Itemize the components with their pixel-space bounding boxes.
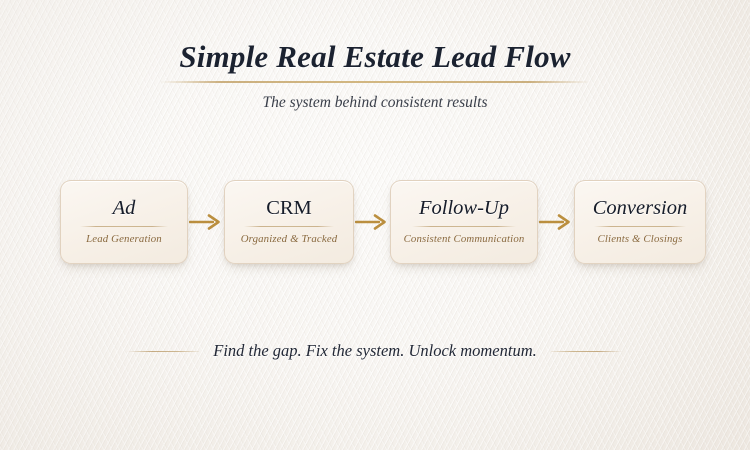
flow-step-caption: Clients & Closings bbox=[598, 233, 683, 245]
flow-step-title: CRM bbox=[266, 198, 312, 220]
flow-step-card-ad[interactable]: Ad Lead Generation bbox=[60, 180, 188, 264]
flow-step-title: Conversion bbox=[593, 198, 688, 220]
flow-step-divider bbox=[412, 226, 517, 227]
arrow-right-icon bbox=[188, 180, 224, 264]
title-divider-rule bbox=[160, 81, 590, 83]
arrow-right-icon bbox=[538, 180, 574, 264]
footer-tagline: Find the gap. Fix the system. Unlock mom… bbox=[213, 341, 537, 361]
flow-step-divider bbox=[244, 226, 334, 227]
flow-step-card-conversion[interactable]: Conversion Clients & Closings bbox=[574, 180, 706, 264]
arrow-right-icon bbox=[354, 180, 390, 264]
flow-step-divider bbox=[594, 226, 686, 227]
flow-step-card-follow-up[interactable]: Follow-Up Consistent Communication bbox=[390, 180, 538, 264]
flow-step-caption: Organized & Tracked bbox=[241, 233, 338, 245]
flow-step-caption: Lead Generation bbox=[86, 233, 162, 245]
flow-step-caption: Consistent Communication bbox=[404, 233, 525, 245]
header-block: Simple Real Estate Lead Flow The system … bbox=[0, 0, 750, 112]
flow-step-title: Ad bbox=[113, 198, 136, 220]
lead-flow-diagram: Ad Lead Generation CRM Organized & Track… bbox=[60, 180, 666, 264]
tagline-rule-left bbox=[127, 351, 199, 352]
footer-tagline-row: Find the gap. Fix the system. Unlock mom… bbox=[0, 341, 750, 361]
tagline-rule-right bbox=[551, 351, 623, 352]
flow-step-card-crm[interactable]: CRM Organized & Tracked bbox=[224, 180, 354, 264]
page-title: Simple Real Estate Lead Flow bbox=[0, 39, 750, 75]
flow-step-title: Follow-Up bbox=[419, 198, 509, 220]
infographic-canvas: Simple Real Estate Lead Flow The system … bbox=[0, 0, 750, 450]
page-subtitle: The system behind consistent results bbox=[0, 94, 750, 112]
flow-step-divider bbox=[80, 226, 169, 227]
